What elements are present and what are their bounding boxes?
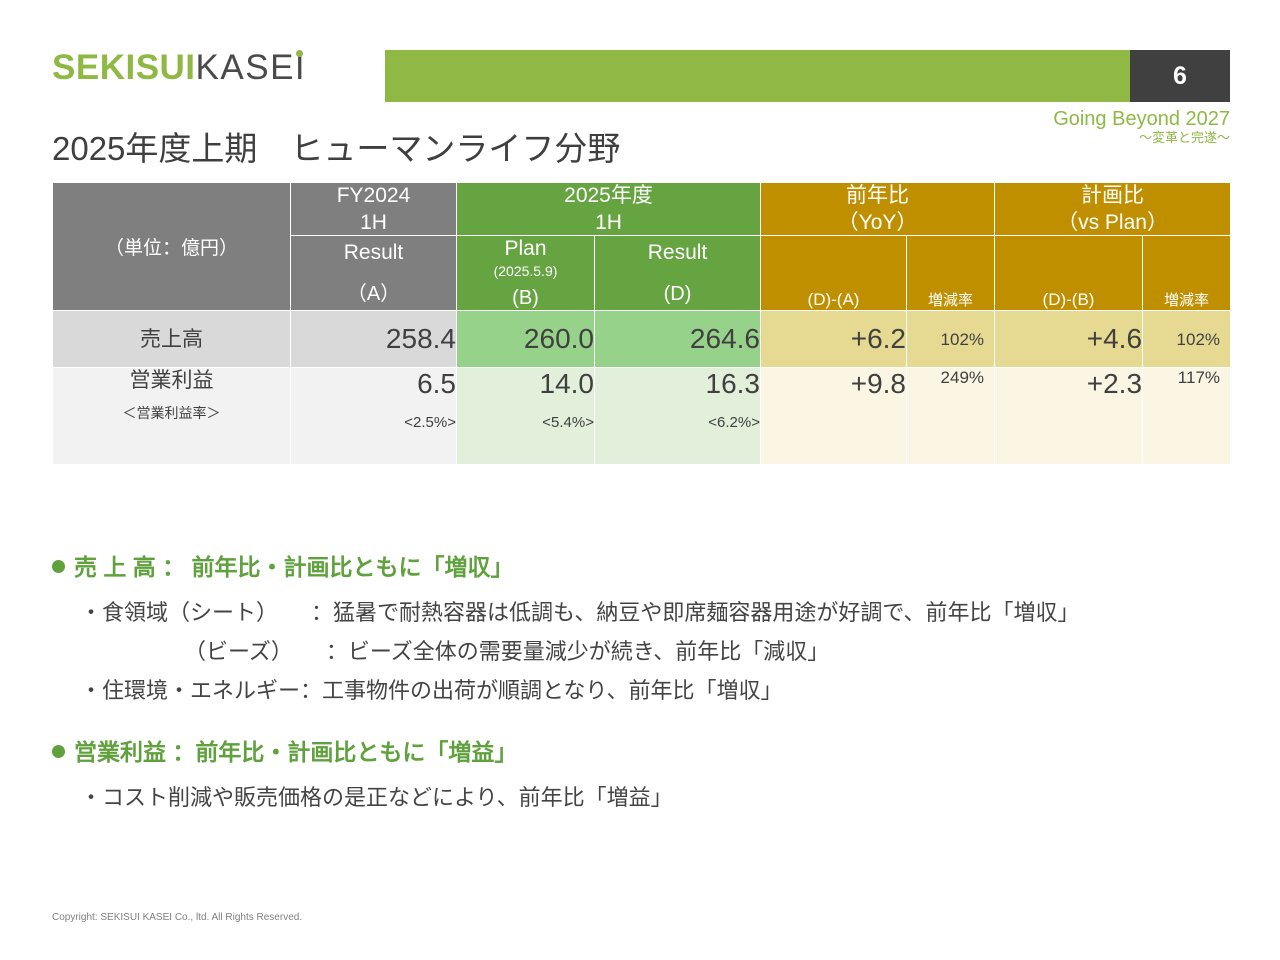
group-header-fy2025: 2025年度 1H <box>457 183 761 236</box>
cell-profit-fy2024-result: 6.5 <2.5%> <box>291 368 457 465</box>
bullet-dot-icon <box>52 745 65 758</box>
row-sublabel-operating-margin: ＜営業利益率＞ <box>53 405 290 422</box>
col-header-yoy-diff: (D)-(A) <box>761 236 907 311</box>
group-sub-yoy: （YoY） <box>761 210 994 236</box>
financial-table-container: （単位：億円） FY2024 1H 2025年度 1H 前年比 （YoY） 計画… <box>52 182 1230 465</box>
cell-profit-plan-margin: <5.4%> <box>457 414 594 431</box>
group-header-yoy: 前年比 （YoY） <box>761 183 995 236</box>
cell-revenue-fy2024-result: 258.4 <box>291 311 457 368</box>
cell-profit-result-value: 16.3 <box>706 368 761 399</box>
col-name-result: Result <box>648 241 708 264</box>
logo-primary-text: SEKISUI <box>52 48 196 87</box>
col-note-plan-date: (2025.5.9) <box>457 263 594 280</box>
row-label-operating-profit-text: 営業利益 <box>130 369 214 392</box>
cell-profit-plan-value: 14.0 <box>540 368 595 399</box>
group-header-fy2024: FY2024 1H <box>291 183 457 236</box>
row-label-operating-profit: 営業利益 ＜営業利益率＞ <box>53 368 291 465</box>
cell-revenue-result: 264.6 <box>595 311 761 368</box>
cell-profit-yoy-diff: +9.8 <box>761 368 907 465</box>
cell-profit-plan-diff: +2.3 <box>995 368 1143 465</box>
tagline-sub: 〜変革と完遂〜 <box>1053 131 1230 146</box>
group-sub-vsplan: （vs Plan） <box>995 210 1230 236</box>
commentary-line-food-sheet: ・食領域（シート） ：猛暑で耐熱容器は低調も、納豆や即席麺容器用途が好調で、前年… <box>52 596 1242 629</box>
cell-profit-result-margin: <6.2%> <box>595 414 760 431</box>
col-name-fy2024-result: Result <box>344 241 404 264</box>
group-sub-fy2024: 1H <box>291 210 456 236</box>
group-header-vsplan: 計画比 （vs Plan） <box>995 183 1231 236</box>
commentary-line-cost-reduction: ・コスト削減や販売価格の是正などにより、前年比「増益」 <box>52 781 1242 814</box>
group-label-fy2025: 2025年度 <box>564 184 653 207</box>
col-header-yoy-pct: 増減率 <box>907 236 995 311</box>
page-title: 2025年度上期 ヒューマンライフ分野 <box>52 122 620 170</box>
col-header-plan: Plan (2025.5.9) (B) <box>457 236 595 311</box>
group-label-vsplan: 計画比 <box>1081 184 1144 207</box>
col-letter-d-minus-a: (D)-(A) <box>761 290 906 311</box>
col-letter-yoy-rate: 増減率 <box>907 292 994 310</box>
corporate-tagline: Going Beyond 2027 〜変革と完遂〜 <box>1053 108 1230 146</box>
group-label-fy2024: FY2024 <box>337 184 411 207</box>
cell-revenue-yoy-pct: 102% <box>907 311 995 368</box>
cell-profit-plan: 14.0 <5.4%> <box>457 368 595 465</box>
slide-header: SEKISUIKASEI 6 Going Beyond 2027 〜変革と完遂〜… <box>0 0 1280 165</box>
cell-profit-fy2024-value: 6.5 <box>417 368 456 399</box>
col-header-fy2024-result: Result （A） <box>291 236 457 311</box>
commentary-heading-profit-text: 営業利益 ：前年比・計画比ともに「増益」 <box>74 739 517 765</box>
cell-revenue-plan-pct: 102% <box>1143 311 1231 368</box>
financial-table: （単位：億円） FY2024 1H 2025年度 1H 前年比 （YoY） 計画… <box>52 182 1231 465</box>
logo-secondary-text: KASEI <box>196 48 307 87</box>
col-letter-b: (B) <box>457 286 594 310</box>
cell-revenue-plan: 260.0 <box>457 311 595 368</box>
commentary-line-housing-energy: ・住環境・エネルギー：工事物件の出荷が順調となり、前年比「増収」 <box>52 674 1242 707</box>
col-header-plan-pct: 増減率 <box>1143 236 1231 311</box>
table-row: 売上高 258.4 260.0 264.6 +6.2 102% +4.6 102… <box>53 311 1231 368</box>
cell-profit-fy2024-margin: <2.5%> <box>291 414 456 431</box>
group-sub-fy2025: 1H <box>457 210 760 236</box>
cell-profit-yoy-pct: 249% <box>907 368 995 465</box>
cell-profit-plan-pct: 117% <box>1143 368 1231 465</box>
company-logo: SEKISUIKASEI <box>52 48 313 88</box>
commentary-heading-revenue: 売 上 高 ： 前年比・計画比ともに「増収」 <box>52 548 1242 582</box>
table-group-header-row: （単位：億円） FY2024 1H 2025年度 1H 前年比 （YoY） 計画… <box>53 183 1231 236</box>
col-letter-a: （A） <box>291 282 456 306</box>
cell-profit-result: 16.3 <6.2%> <box>595 368 761 465</box>
bullet-dot-icon <box>52 560 65 573</box>
table-row: 営業利益 ＜営業利益率＞ 6.5 <2.5%> 14.0 <5.4%> 16.3… <box>53 368 1231 465</box>
commentary-heading-profit: 営業利益 ：前年比・計画比ともに「増益」 <box>52 733 1242 767</box>
commentary-line-food-beads: （ビーズ） ：ビーズ全体の需要量減少が続き、前年比「減収」 <box>52 635 1242 668</box>
cell-revenue-yoy-diff: +6.2 <box>761 311 907 368</box>
header-accent-bar <box>385 50 1130 102</box>
cell-revenue-plan-diff: +4.6 <box>995 311 1143 368</box>
col-letter-plan-rate: 増減率 <box>1143 292 1230 310</box>
col-header-plan-diff: (D)-(B) <box>995 236 1143 311</box>
page-number-badge: 6 <box>1130 50 1230 102</box>
commentary-section: 売 上 高 ： 前年比・計画比ともに「増収」 ・食領域（シート） ：猛暑で耐熱容… <box>52 548 1242 820</box>
commentary-heading-revenue-text: 売 上 高 ： 前年比・計画比ともに「増収」 <box>74 554 514 580</box>
group-label-yoy: 前年比 <box>846 184 909 207</box>
col-name-plan: Plan <box>504 237 546 260</box>
copyright-notice: Copyright: SEKISUI KASEI Co., ltd. All R… <box>52 912 302 923</box>
unit-label-cell: （単位：億円） <box>53 183 291 311</box>
col-letter-d-minus-b: (D)-(B) <box>995 290 1142 311</box>
col-letter-d: (D) <box>595 282 760 306</box>
col-header-result: Result (D) <box>595 236 761 311</box>
tagline-main: Going Beyond 2027 <box>1053 108 1230 131</box>
row-label-revenue: 売上高 <box>53 311 291 368</box>
